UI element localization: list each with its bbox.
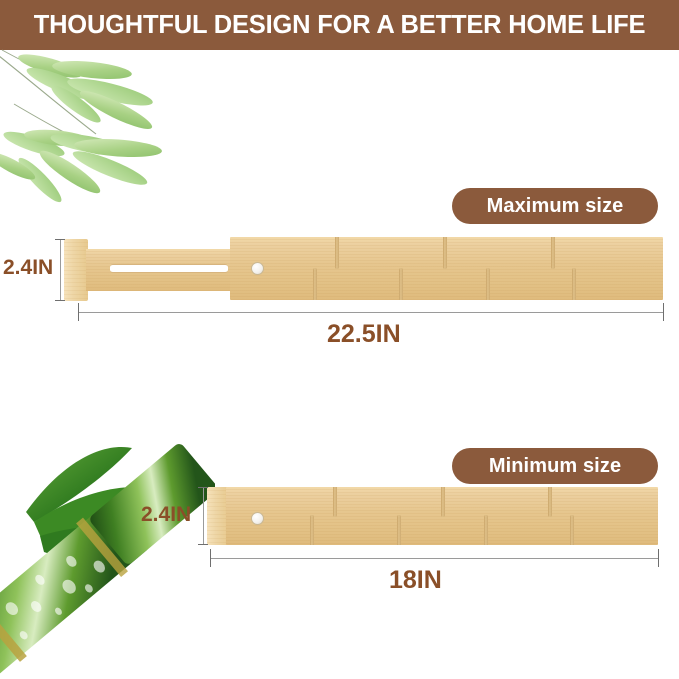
length-dimension-line-min	[210, 558, 659, 559]
height-dimension-tick-top-max	[55, 239, 65, 240]
bamboo-stalk-image	[0, 440, 215, 679]
divider-notch-bottom	[399, 268, 403, 300]
divider-notch-top	[441, 487, 445, 517]
badge-maximum-size-label: Maximum size	[487, 195, 624, 218]
divider-notch-bottom	[486, 268, 490, 300]
length-dimension-tick-left-min	[210, 549, 211, 567]
divider-adjustment-slot	[110, 264, 228, 273]
divider-notch-bottom	[484, 515, 488, 545]
badge-minimum-size: Minimum size	[452, 448, 658, 484]
divider-notch-top	[443, 237, 447, 269]
divider-notch-bottom	[397, 515, 401, 545]
divider-notch-bottom	[313, 268, 317, 300]
height-dimension-line-max	[60, 239, 61, 301]
divider-notch-top	[335, 237, 339, 269]
length-dimension-tick-right-max	[663, 303, 664, 321]
height-dimension-label-max: 2.4IN	[3, 256, 53, 280]
height-dimension-line-min	[203, 487, 204, 545]
badge-maximum-size: Maximum size	[452, 188, 658, 224]
divider-notch-bottom	[310, 515, 314, 545]
divider-notch-top	[333, 487, 337, 517]
divider-notch-top	[551, 237, 555, 269]
length-dimension-label-max: 22.5IN	[327, 320, 401, 349]
length-dimension-line-max	[78, 312, 663, 313]
length-dimension-tick-right-min	[658, 549, 659, 567]
bamboo-leaves-icon	[0, 48, 232, 213]
header-banner: THOUGHTFUL DESIGN FOR A BETTER HOME LIFE	[0, 0, 679, 50]
height-dimension-tick-bottom-max	[55, 300, 65, 301]
badge-minimum-size-label: Minimum size	[489, 455, 621, 478]
divider-notch-bottom	[570, 515, 574, 545]
page-title: THOUGHTFUL DESIGN FOR A BETTER HOME LIFE	[34, 11, 646, 40]
height-dimension-label-min: 2.4IN	[141, 503, 191, 527]
divider-notch-bottom	[572, 268, 576, 300]
height-dimension-tick-bottom-min	[198, 544, 208, 545]
divider-spring-button	[251, 512, 264, 525]
length-dimension-label-min: 18IN	[389, 566, 442, 595]
divider-spring-button	[251, 262, 264, 275]
divider-notch-top	[548, 487, 552, 517]
height-dimension-tick-top-min	[198, 487, 208, 488]
length-dimension-tick-left-max	[78, 303, 79, 321]
divider-end-cap	[64, 239, 88, 301]
